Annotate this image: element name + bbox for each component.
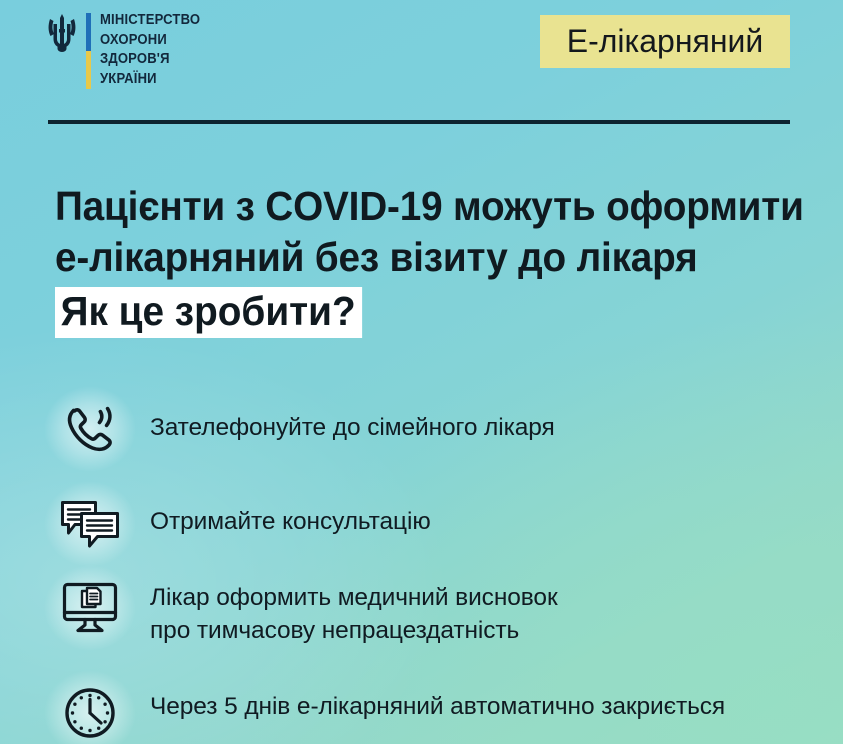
step-item: Через 5 днів е-лікарняний автоматично за… — [0, 682, 843, 739]
chat-bubbles-icon — [59, 498, 121, 550]
step-label: Зателефонуйте до сімейного лікаря — [150, 411, 555, 444]
ministry-logo: МІНІСТЕРСТВО ОХОРОНИ ЗДОРОВ'Я УКРАЇНИ — [47, 11, 211, 89]
headline-block: Пацієнти з COVID-19 можуть оформити е-лі… — [55, 181, 795, 338]
ukraine-trident-icon — [47, 14, 77, 52]
phone-call-icon — [61, 401, 119, 457]
ukraine-flag-bar-icon — [86, 13, 91, 89]
header-divider — [48, 120, 790, 124]
step-icon-container — [50, 401, 130, 457]
clock-icon — [64, 687, 116, 739]
headline-line-1: Пацієнти з COVID-19 можуть оформити — [55, 181, 754, 232]
step-icon-container — [50, 582, 130, 634]
step-item: Лікар оформить медичний висновок про тим… — [0, 579, 843, 647]
e-sick-leave-badge-label: Е-лікарняний — [567, 23, 764, 60]
ministry-logo-line-4: УКРАЇНИ — [100, 70, 200, 90]
step-label: Отримайте консультацію — [150, 505, 431, 538]
step-icon-container — [50, 687, 130, 739]
poster-header: МІНІСТЕРСТВО ОХОРОНИ ЗДОРОВ'Я УКРАЇНИ Е-… — [0, 0, 843, 122]
step-label: Через 5 днів е-лікарняний автоматично за… — [150, 690, 725, 723]
ministry-logo-line-3: ЗДОРОВ'Я — [100, 50, 200, 70]
step-item: Отримайте консультацію — [0, 490, 843, 550]
infographic-poster: МІНІСТЕРСТВО ОХОРОНИ ЗДОРОВ'Я УКРАЇНИ Е-… — [0, 0, 843, 744]
ministry-logo-text: МІНІСТЕРСТВО ОХОРОНИ ЗДОРОВ'Я УКРАЇНИ — [100, 11, 211, 89]
ministry-logo-line-1: МІНІСТЕРСТВО — [100, 11, 200, 31]
headline-question-wrap: Як це зробити? — [55, 287, 795, 338]
step-item: Зателефонуйте до сімейного лікаря — [0, 393, 843, 457]
step-icon-container — [50, 498, 130, 550]
headline-question: Як це зробити? — [55, 287, 362, 338]
headline-line-2: е-лікарняний без візиту до лікаря — [55, 232, 754, 283]
step-label: Лікар оформить медичний висновок про тим… — [150, 581, 558, 647]
monitor-document-icon — [62, 582, 118, 634]
e-sick-leave-badge: Е-лікарняний — [540, 15, 790, 68]
ministry-logo-line-2: ОХОРОНИ — [100, 31, 200, 51]
